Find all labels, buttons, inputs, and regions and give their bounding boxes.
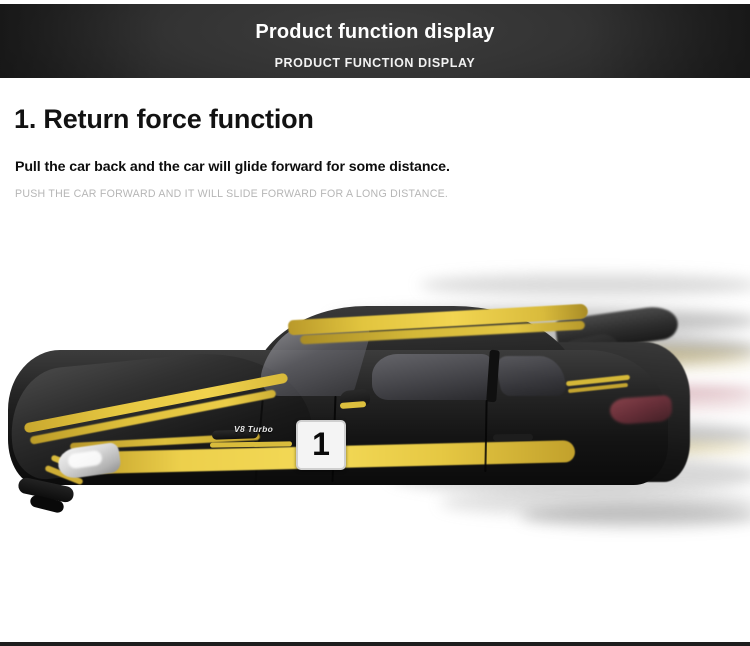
front-side-window [372, 354, 492, 400]
section-lead-text: Pull the car back and the car will glide… [15, 159, 450, 175]
section-title: 1. Return force function [14, 104, 314, 135]
race-number-plate: 1 [296, 420, 346, 470]
door-handle [493, 434, 533, 442]
taillight [609, 395, 673, 425]
product-image [0, 250, 750, 570]
footer-edge [0, 642, 750, 646]
car-model [0, 250, 750, 570]
header-banner: Product function display PRODUCT FUNCTIO… [0, 4, 750, 78]
header-title: Product function display [0, 21, 750, 44]
v8-turbo-badge: V8 Turbo [234, 424, 273, 434]
header-subtitle: PRODUCT FUNCTION DISPLAY [0, 56, 750, 70]
section-caption-text: PUSH THE CAR FORWARD AND IT WILL SLIDE F… [15, 188, 448, 200]
product-display-page: Product function display PRODUCT FUNCTIO… [0, 0, 750, 646]
race-number-digit: 1 [312, 428, 330, 460]
